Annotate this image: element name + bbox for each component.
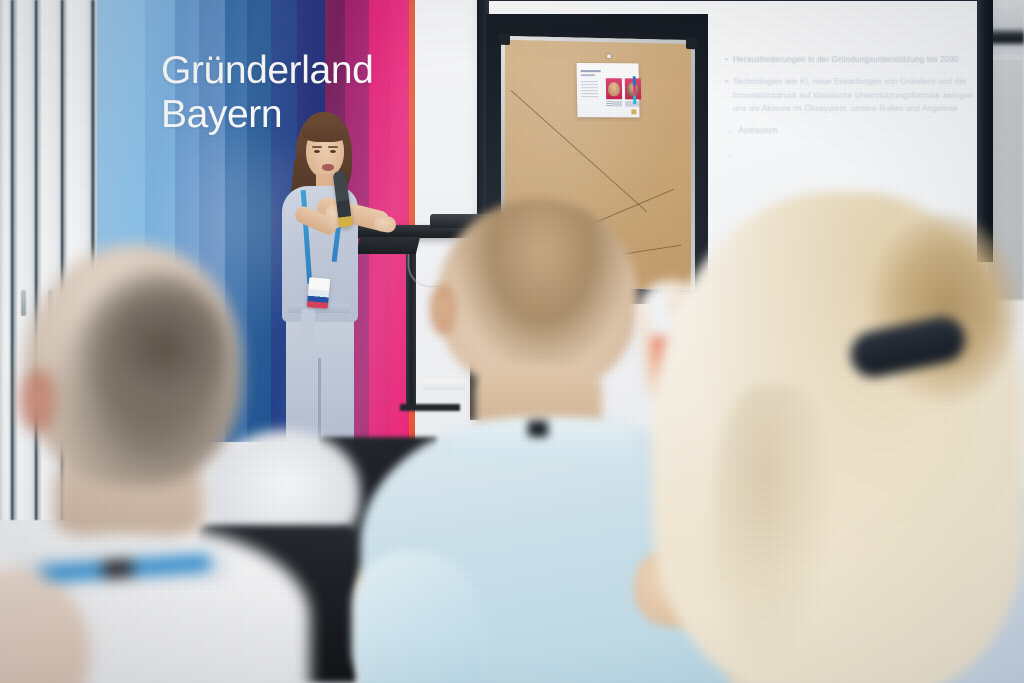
pinboard-corner-icon <box>686 38 697 49</box>
pin-icon <box>607 54 611 58</box>
slide-bullet-text: Herausforderungen in der Gründungsunters… <box>733 53 985 66</box>
slide-arrow-line: → <box>725 148 985 161</box>
slide-arrow-text: Austausch <box>738 124 985 137</box>
poster-title-line <box>581 70 601 72</box>
slide-arrow-text <box>738 148 985 161</box>
conference-photo-scene: Gründerland Bayern • Herausforderungen i… <box>0 0 1024 683</box>
slide-bullet-text: Technologien wie KI, neue Erwartungen vo… <box>733 75 985 115</box>
speaker-eye <box>314 150 320 153</box>
speaker-eyebrow <box>328 146 338 148</box>
pinboard-corner-icon <box>499 34 510 45</box>
poster-caption-line <box>606 101 622 106</box>
arrow-right-icon: → <box>725 148 733 161</box>
audience-member-right <box>636 208 1024 683</box>
attendee-ear <box>20 370 54 432</box>
slide-bullet: • Technologien wie KI, neue Erwartungen … <box>725 75 985 115</box>
speaker-fringe <box>302 120 348 142</box>
screen-frame-top <box>477 0 993 1</box>
speaker-eyebrow <box>312 146 322 148</box>
attendee-sleeve <box>352 551 482 683</box>
poster-logo-icon <box>631 109 636 114</box>
attendee-hair-strand <box>712 384 836 674</box>
bullet-marker-icon: • <box>725 75 728 115</box>
pinboard-poster <box>577 63 640 117</box>
poster-subtitle-line <box>581 74 595 76</box>
speaker-eye <box>330 150 336 153</box>
poster-body-lines <box>581 81 598 99</box>
attendee-collar-tag <box>528 421 548 437</box>
speaker-mouth <box>322 164 334 171</box>
audience-member-left <box>0 238 300 683</box>
attendee-ear <box>430 283 456 335</box>
attendee-hair-shadow <box>868 214 1018 404</box>
slide-arrow-line: → Austausch <box>725 124 985 137</box>
arrow-right-icon: → <box>725 124 733 137</box>
poster-portrait-photo <box>606 78 622 99</box>
attendee-hair <box>76 268 226 434</box>
presentation-slide: • Herausforderungen in der Gründungsunte… <box>725 53 985 162</box>
speaker-badge <box>307 277 331 309</box>
bullet-marker-icon: • <box>725 53 728 66</box>
slide-bullet: • Herausforderungen in der Gründungsunte… <box>725 53 985 66</box>
poster-accent-bar <box>633 76 636 104</box>
